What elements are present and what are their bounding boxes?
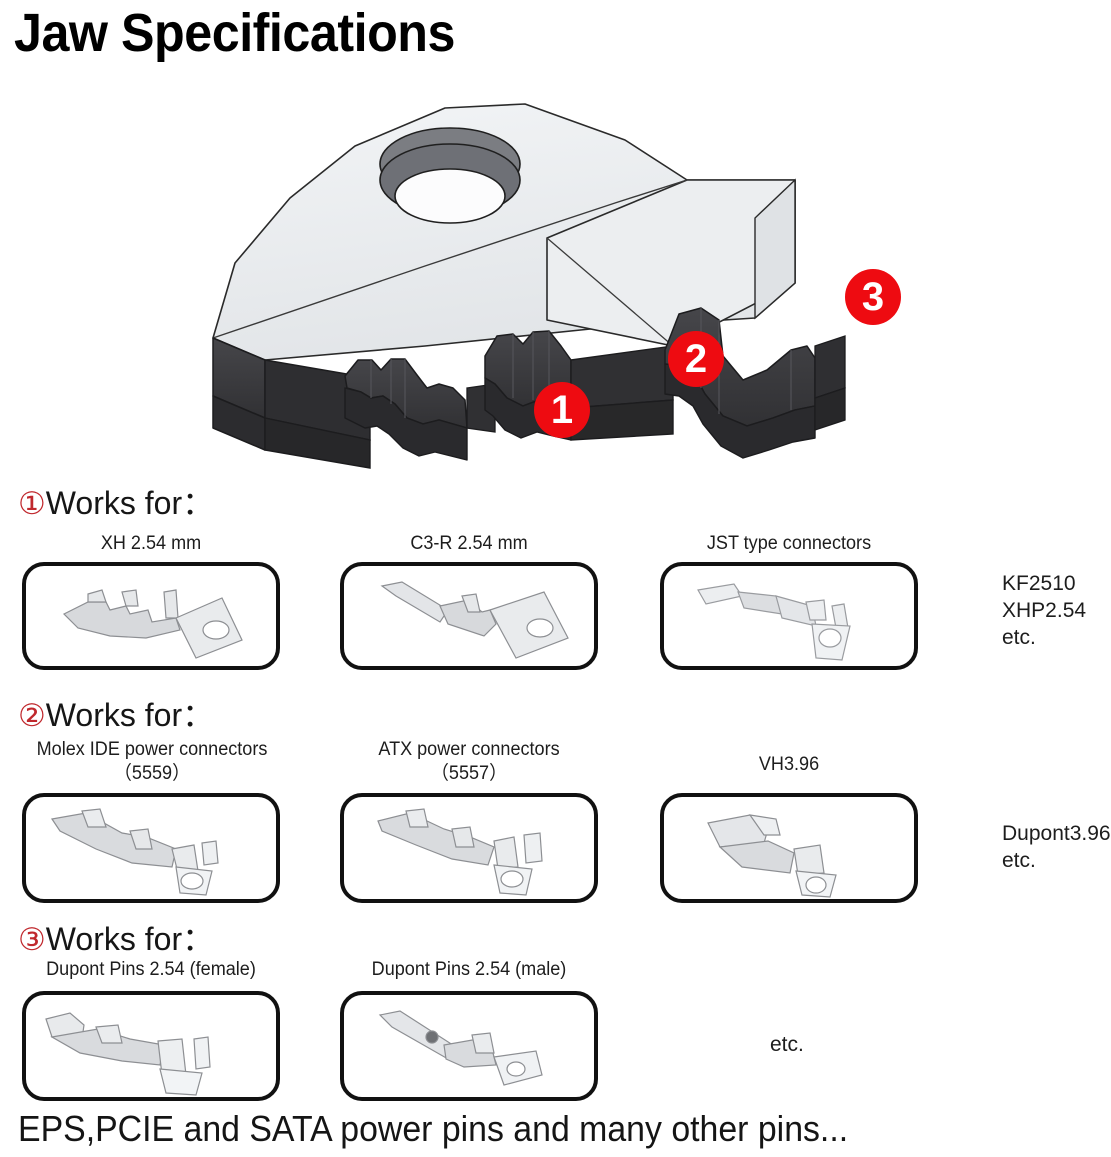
- photo-box-dupont-male: [340, 991, 598, 1101]
- section-2-heading: ②Works for：: [18, 690, 214, 736]
- section-3-heading: ③Works for：: [18, 914, 214, 960]
- circled-number-2: ②: [18, 698, 46, 734]
- jaw-badge-2: 2: [668, 331, 724, 387]
- side-note-section-2: Dupont3.96 etc.: [1002, 820, 1111, 874]
- section-1-heading-text: Works for：: [46, 485, 214, 521]
- section-3-etc-text: etc.: [770, 1033, 804, 1057]
- item-label-xh: XH 2.54 mm: [28, 532, 273, 556]
- page-title: Jaw Specifications: [14, 2, 455, 64]
- item-label-dupont-male: Dupont Pins 2.54 (male): [346, 958, 591, 982]
- section-1-heading: ①Works for：: [18, 478, 214, 524]
- section-2-heading-text: Works for：: [46, 697, 214, 733]
- item-label-molex-5559: Molex IDE power connectors （5559）: [19, 738, 285, 786]
- photo-box-vh396: [660, 793, 918, 903]
- jaw-diagram: 1 2 3: [195, 88, 865, 508]
- jaw-badge-3: 3: [845, 269, 901, 325]
- item-label-c3r: C3-R 2.54 mm: [346, 532, 591, 556]
- photo-box-jst: [660, 562, 918, 670]
- item-label-jst: JST type connectors: [666, 532, 911, 556]
- photo-box-dupont-female: [22, 991, 280, 1101]
- photo-box-atx-5557: [340, 793, 598, 903]
- photo-box-c3r: [340, 562, 598, 670]
- circled-number-1: ①: [18, 486, 46, 522]
- item-label-dupont-female: Dupont Pins 2.54 (female): [25, 958, 278, 982]
- footer-note: EPS,PCIE and SATA power pins and many ot…: [18, 1108, 848, 1150]
- side-note-section-1: KF2510 XHP2.54 etc.: [1002, 570, 1086, 651]
- photo-box-molex-5559: [22, 793, 280, 903]
- circled-number-3: ③: [18, 922, 46, 958]
- item-label-vh396: VH3.96: [666, 753, 911, 777]
- photo-box-xh: [22, 562, 280, 670]
- jaw-badge-1: 1: [534, 382, 590, 438]
- section-3-heading-text: Works for：: [46, 921, 214, 957]
- item-label-atx-5557: ATX power connectors （5557）: [343, 738, 596, 786]
